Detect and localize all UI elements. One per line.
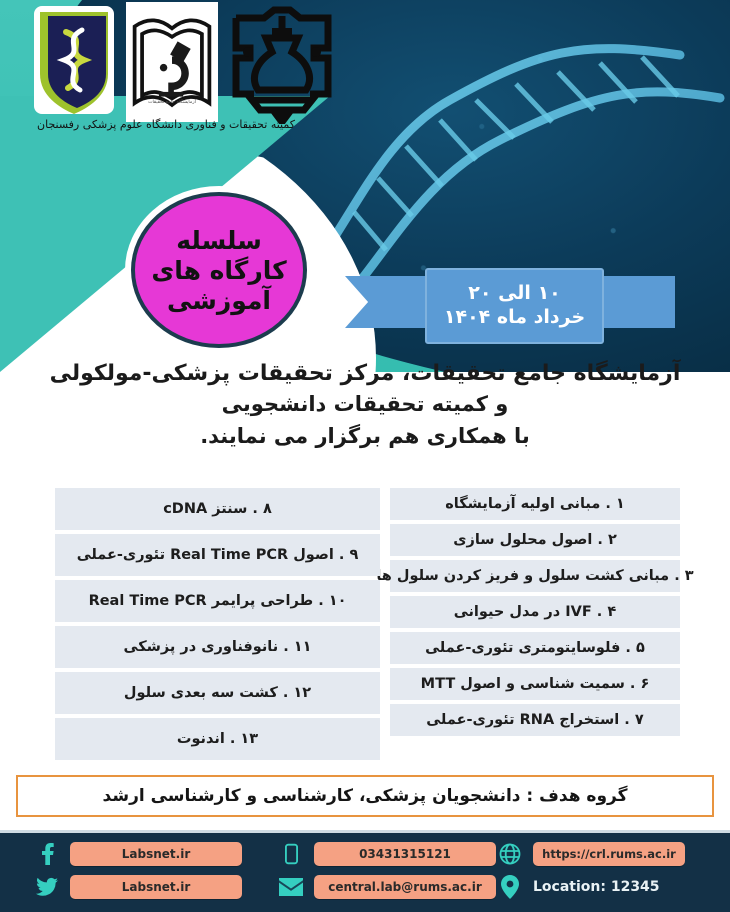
date-ribbon: ۱۰ الی ۲۰ خرداد ماه ۱۴۰۴ xyxy=(395,268,625,340)
email-row[interactable]: central.lab@rums.ac.ir xyxy=(278,874,496,900)
list-item: ۱۱ . نانوفناوری در پزشکی xyxy=(55,626,380,668)
badge-line-3: آموزشی xyxy=(167,286,271,315)
phone-number[interactable]: 03431315121 xyxy=(314,842,496,866)
workshop-list-left: ۸ . سنتز cDNA ۹ . اصول Real Time PCR تئو… xyxy=(55,488,380,764)
workshop-series-badge: سلسله کارگاه های آموزشی xyxy=(131,192,307,348)
footer-social-column: Labsnet.ir Labsnet.ir xyxy=(34,841,242,900)
date-month-year: خرداد ماه ۱۴۰۴ xyxy=(444,306,585,330)
email-address[interactable]: central.lab@rums.ac.ir xyxy=(314,875,496,899)
twitter-icon xyxy=(34,874,60,900)
website-url[interactable]: https://crl.rums.ac.ir xyxy=(533,842,685,866)
list-item: ۵ . فلوسایتومتری تئوری-عملی xyxy=(390,632,680,664)
twitter-row[interactable]: Labsnet.ir xyxy=(34,874,242,900)
map-pin-icon xyxy=(497,874,523,900)
location-row: Location: 12345 xyxy=(497,874,685,900)
list-item: ۷ . استخراج RNA تئوری-عملی xyxy=(390,704,680,736)
molecular-research-center-dna-logo xyxy=(30,2,118,122)
facebook-row[interactable]: Labsnet.ir xyxy=(34,841,242,867)
list-item: ۱۰ . طراحی پرایمر Real Time PCR xyxy=(55,580,380,622)
contact-footer: Labsnet.ir Labsnet.ir 03431315121 xyxy=(0,830,730,912)
logos-caption: کمیته تحقیقات و فناوری دانشگاه علوم پزشک… xyxy=(6,118,326,148)
facebook-handle[interactable]: Labsnet.ir xyxy=(70,842,242,866)
list-item: ۲ . اصول محلول سازی xyxy=(390,524,680,556)
list-item: ۴ . IVF در مدل حیوانی xyxy=(390,596,680,628)
ribbon-core: ۱۰ الی ۲۰ خرداد ماه ۱۴۰۴ xyxy=(425,268,604,344)
phone-row[interactable]: 03431315121 xyxy=(278,841,496,867)
target-group-text: گروه هدف : دانشجویان پزشکی، کارشناسی و ک… xyxy=(103,786,628,806)
twitter-handle[interactable]: Labsnet.ir xyxy=(70,875,242,899)
organizer-title: آزمایشگاه جامع تحقیقات، مرکز تحقیقات پزش… xyxy=(20,358,710,452)
list-item: ۱ . مبانی اولیه آزمایشگاه xyxy=(390,488,680,520)
envelope-icon xyxy=(278,874,304,900)
list-item: ۶ . سمیت شناسی و اصول MTT xyxy=(390,668,680,700)
research-committee-flask-logo xyxy=(226,2,338,124)
mobile-phone-icon xyxy=(278,841,304,867)
organizer-line-2: و کمیته تحقیقات دانشجویی xyxy=(20,389,710,421)
date-range: ۱۰ الی ۲۰ xyxy=(468,282,561,306)
globe-icon xyxy=(497,841,523,867)
target-group-bar: گروه هدف : دانشجویان پزشکی، کارشناسی و ک… xyxy=(16,775,714,817)
badge-line-1: سلسله xyxy=(176,226,262,255)
list-item: ۹ . اصول Real Time PCR تئوری-عملی xyxy=(55,534,380,576)
list-item: ۸ . سنتز cDNA xyxy=(55,488,380,530)
list-item: ۱۲ . کشت سه بعدی سلول xyxy=(55,672,380,714)
location-text: Location: 12345 xyxy=(533,879,660,895)
list-item: ۱۳ . اندنوت xyxy=(55,718,380,760)
logo-row: آزمایشگاه جامع تحقیقات xyxy=(8,2,338,132)
workshop-poster: آزمایشگاه جامع تحقیقات کمیته تحقیقات و ف… xyxy=(0,0,730,912)
website-row[interactable]: https://crl.rums.ac.ir xyxy=(497,841,685,867)
footer-web-column: https://crl.rums.ac.ir Location: 12345 xyxy=(497,841,685,900)
microscope-book-logo: آزمایشگاه جامع تحقیقات xyxy=(126,2,218,122)
facebook-icon xyxy=(34,841,60,867)
list-item: ۳ . مبانی کشت سلول و فریز کردن سلول ها xyxy=(390,560,680,592)
workshop-lists: ۱ . مبانی اولیه آزمایشگاه ۲ . اصول محلول… xyxy=(0,488,730,760)
workshop-list-right: ۱ . مبانی اولیه آزمایشگاه ۲ . اصول محلول… xyxy=(390,488,680,740)
footer-contact-column: 03431315121 central.lab@rums.ac.ir xyxy=(278,841,496,900)
badge-line-2: کارگاه های xyxy=(151,256,286,285)
organizer-line-1: آزمایشگاه جامع تحقیقات، مرکز تحقیقات پزش… xyxy=(20,358,710,389)
organizer-line-3: با همکاری هم برگزار می نمایند. xyxy=(20,421,710,453)
